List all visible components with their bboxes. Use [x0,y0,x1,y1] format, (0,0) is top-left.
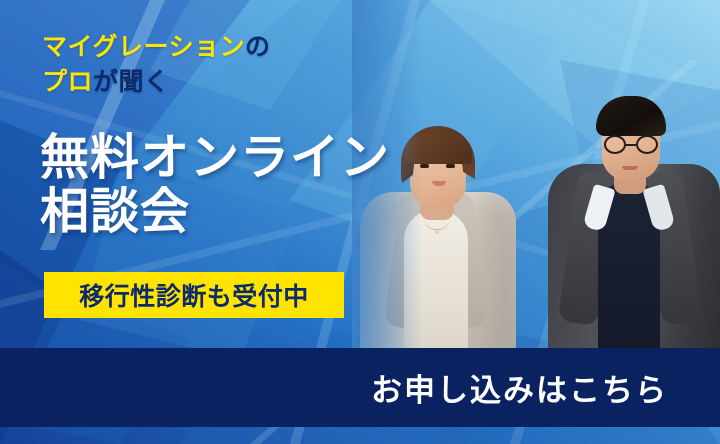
kicker-text: マイグレーションの プロが聞く [42,30,271,99]
offer-badge-label: 移行性診断も受付中 [79,277,309,313]
headline: 無料オンライン 相談会 [40,132,390,240]
cta-bar[interactable]: お申し込みはこちら [0,348,720,427]
headline-line-2: 相談会 [40,186,390,240]
kicker-line2-navy: が聞く [93,68,170,96]
offer-badge: 移行性診断も受付中 [44,272,344,318]
kicker-line1-yellow: マイグレーション [42,33,245,61]
kicker-line-2: プロが聞く [42,65,271,100]
kicker-line1-navy: の [245,33,271,61]
headline-line-1: 無料オンライン [40,132,390,186]
cta-label[interactable]: お申し込みはこちら [371,365,668,410]
presenters-photo [352,0,720,350]
promo-banner: マイグレーションの プロが聞く 無料オンライン 相談会 移行性診断も受付中 お申… [0,0,720,444]
kicker-line-1: マイグレーションの [42,30,271,65]
kicker-line2-yellow: プロ [42,68,93,96]
